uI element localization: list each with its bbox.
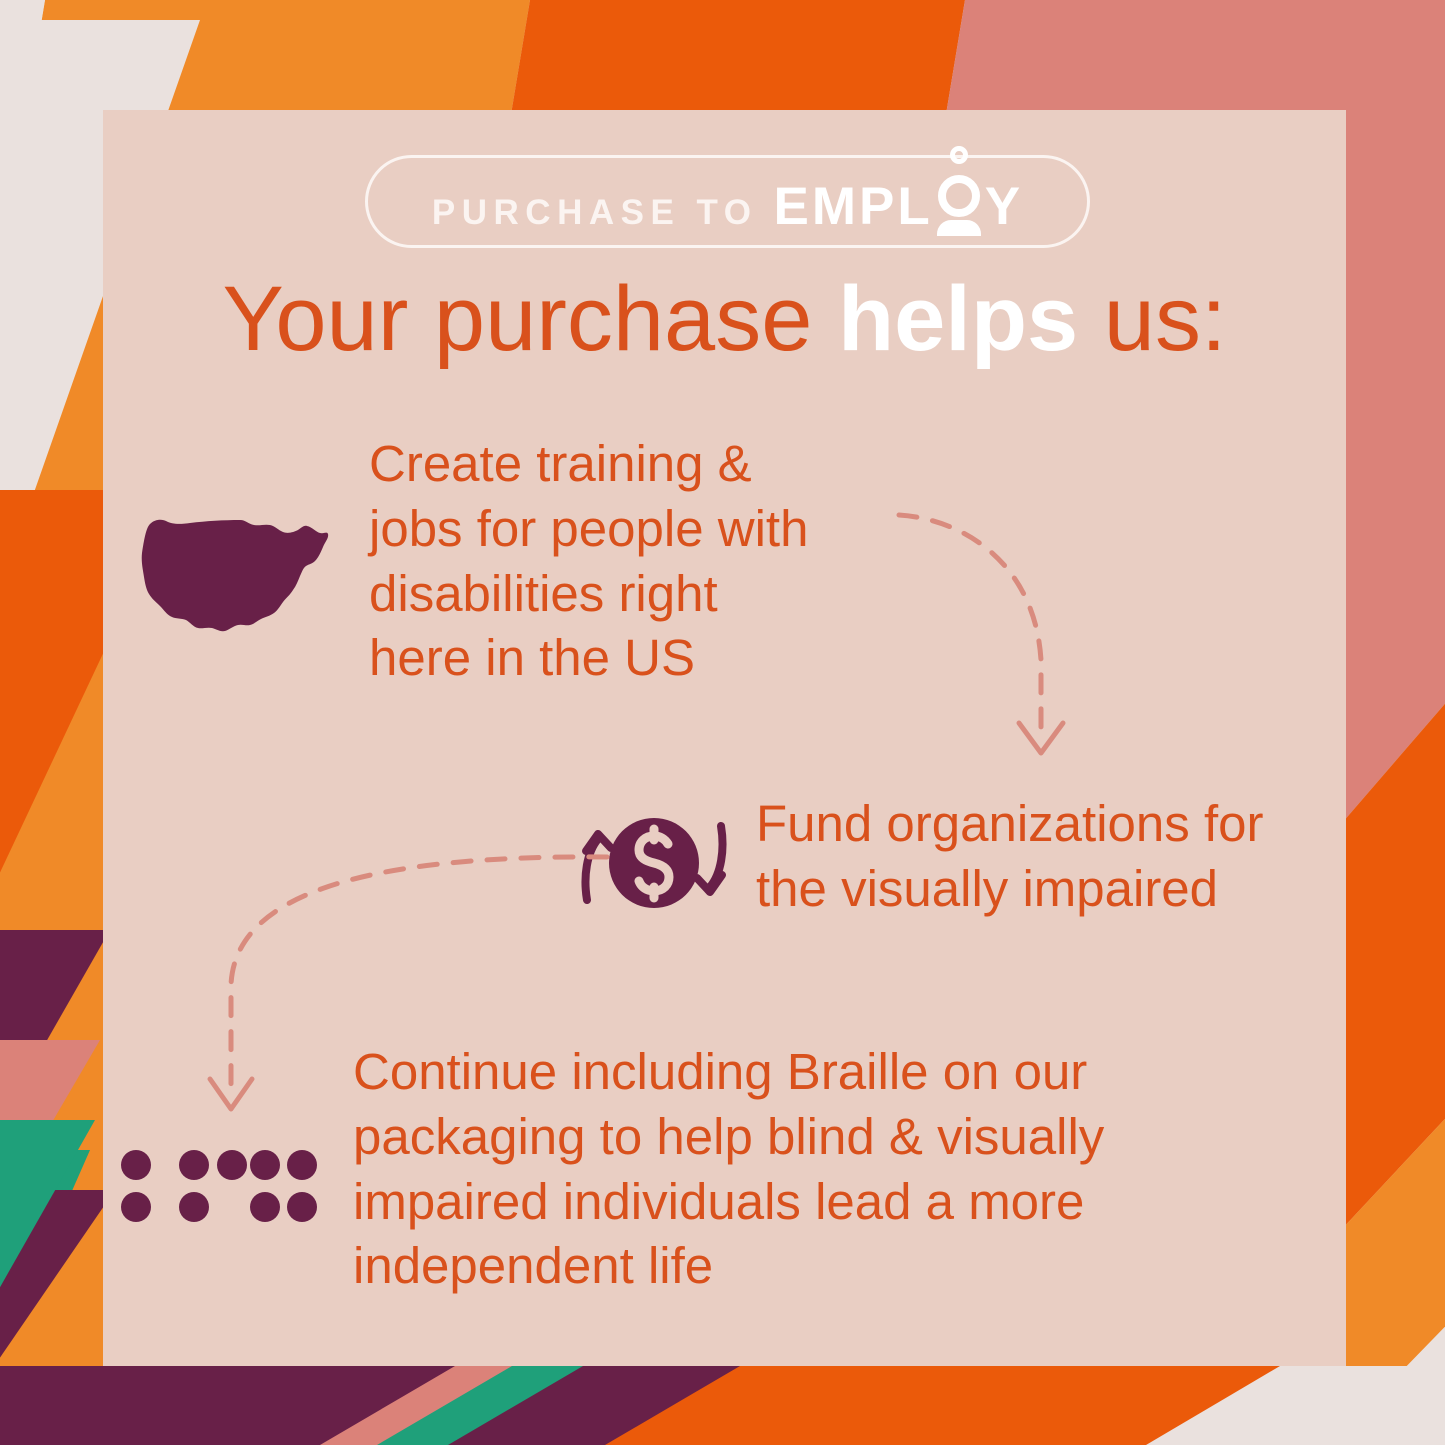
content-card: PURCHASE TO EMPL Y Your purchase helps u… [103, 110, 1346, 1366]
headline-part-1: Your purchase [222, 268, 837, 370]
braille-dots-icon [121, 1150, 321, 1222]
headline-part-3: us: [1078, 268, 1226, 370]
dollar-coin-icon [571, 810, 737, 916]
item-text-braille-packaging: Continue including Braille on our packag… [353, 1040, 1183, 1299]
person-icon [935, 171, 983, 224]
item-text-create-training: Create training & jobs for people with d… [369, 432, 899, 691]
braille-dot [179, 1192, 209, 1222]
headline-emphasis: helps [838, 268, 1078, 370]
dashed-arrow-down-right-icon [893, 505, 1093, 775]
person-head-icon [950, 146, 968, 164]
braille-dot [121, 1192, 151, 1222]
badge-word-employ: EMPL Y [774, 171, 1024, 233]
braille-dot [287, 1150, 317, 1180]
us-map-icon [128, 500, 348, 645]
braille-dot [179, 1150, 209, 1180]
person-ring-icon [938, 175, 980, 217]
braille-dot [250, 1150, 280, 1180]
badge-y-text: Y [985, 177, 1023, 236]
braille-dot [217, 1150, 247, 1180]
braille-dot [287, 1192, 317, 1222]
braille-dot [121, 1150, 151, 1180]
person-shoulders-icon [937, 220, 981, 236]
item-text-fund-organizations: Fund organizations for the visually impa… [756, 792, 1326, 922]
badge-empl-text: EMPL [774, 177, 933, 236]
infographic-canvas: PURCHASE TO EMPL Y Your purchase helps u… [0, 0, 1445, 1445]
page-title: Your purchase helps us: [103, 273, 1346, 365]
badge-inner: PURCHASE TO EMPL Y [432, 171, 1023, 233]
badge-word-purchase-to: PURCHASE TO [432, 195, 758, 230]
purchase-to-employ-badge: PURCHASE TO EMPL Y [365, 155, 1090, 248]
braille-dot [250, 1192, 280, 1222]
